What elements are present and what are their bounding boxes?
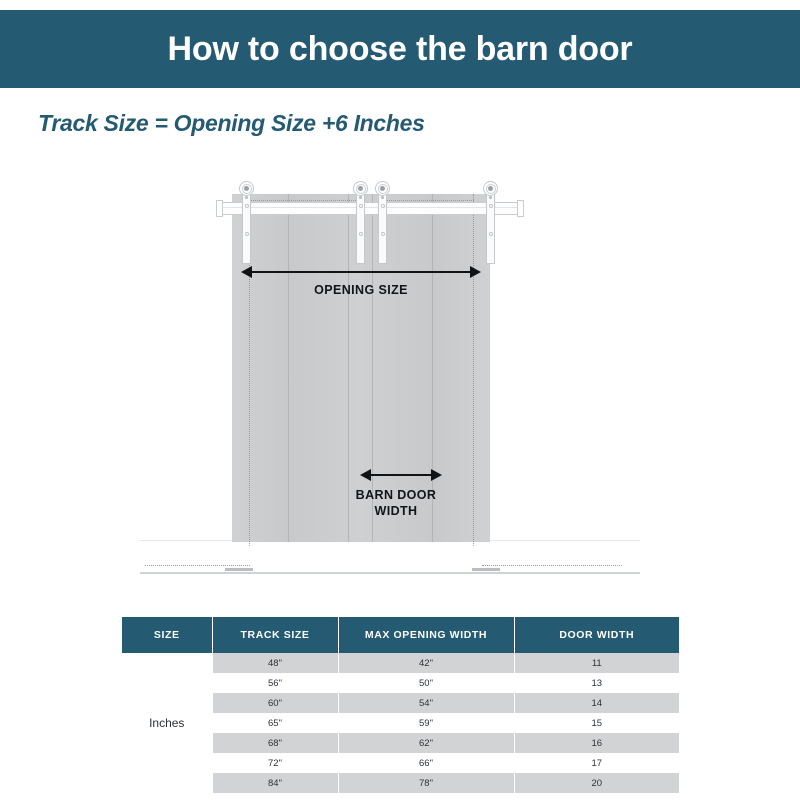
- cell-door-width: 14: [514, 693, 679, 713]
- cell-max-opening-width: 66": [338, 753, 514, 773]
- door-hanger-roller: [483, 172, 498, 264]
- cell-door-width: 20: [514, 773, 679, 793]
- door-hanger-roller: [239, 172, 254, 264]
- floor-dotted-right: [482, 565, 622, 566]
- floor-dotted-left: [145, 565, 250, 566]
- hanger-bolt: [381, 232, 385, 236]
- track-rail-groove: [218, 207, 518, 208]
- track-endcap-left: [216, 200, 223, 217]
- cell-track-size: 48": [212, 653, 338, 673]
- opening-size-dimension-line: [252, 271, 470, 273]
- hanger-bolt: [489, 196, 492, 199]
- cell-max-opening-width: 50": [338, 673, 514, 693]
- hanger-bolt: [381, 204, 385, 208]
- table-row: Inches 48" 42" 11: [122, 653, 679, 673]
- hanger-bolt: [245, 232, 249, 236]
- door-hanger-roller: [353, 172, 368, 264]
- opening-size-arrow-left: [241, 266, 252, 278]
- cell-door-width: 11: [514, 653, 679, 673]
- roller-hub: [380, 186, 385, 191]
- cell-max-opening-width: 78": [338, 773, 514, 793]
- opening-edge-right-dotted: [473, 194, 474, 546]
- cell-door-width: 13: [514, 673, 679, 693]
- header-band: How to choose the barn door: [0, 10, 800, 88]
- hanger-bolt: [359, 204, 363, 208]
- cell-track-size: 60": [212, 693, 338, 713]
- roller-hub: [358, 186, 363, 191]
- door-plank-seam: [288, 194, 289, 542]
- door-width-arrow-right: [431, 469, 442, 481]
- cell-track-size: 84": [212, 773, 338, 793]
- floor-guide-left: [225, 568, 253, 571]
- column-header-track-size: TRACK SIZE: [212, 617, 338, 653]
- door-width-dimension-line: [371, 474, 431, 476]
- opening-size-arrow-right: [470, 266, 481, 278]
- hanger-bolt: [489, 232, 493, 236]
- column-header-door-width: DOOR WIDTH: [514, 617, 679, 653]
- hanger-bolt: [245, 196, 248, 199]
- hanger-bolt: [489, 204, 493, 208]
- opening-size-label: OPENING SIZE: [252, 282, 470, 298]
- door-hanger-roller: [375, 172, 390, 264]
- opening-top-dotted-right: [382, 200, 474, 201]
- unit-cell-inches: Inches: [122, 653, 212, 793]
- cell-door-width: 17: [514, 753, 679, 773]
- hanger-bolt: [359, 196, 362, 199]
- cell-max-opening-width: 54": [338, 693, 514, 713]
- table-header-row: SIZE TRACK SIZE MAX OPENING WIDTH DOOR W…: [122, 617, 679, 653]
- cell-track-size: 56": [212, 673, 338, 693]
- roller-hub: [244, 186, 249, 191]
- hanger-bolt: [245, 204, 249, 208]
- column-header-size: SIZE: [122, 617, 212, 653]
- hanger-bolt: [359, 232, 363, 236]
- hanger-bolt: [381, 196, 384, 199]
- track-rail: [218, 202, 518, 215]
- cell-door-width: 16: [514, 733, 679, 753]
- cell-track-size: 65": [212, 713, 338, 733]
- roller-hub: [488, 186, 493, 191]
- track-endcap-right: [517, 200, 524, 217]
- cell-max-opening-width: 59": [338, 713, 514, 733]
- formula-subtitle: Track Size = Opening Size +6 Inches: [38, 110, 425, 137]
- size-chart-table: SIZE TRACK SIZE MAX OPENING WIDTH DOOR W…: [122, 617, 679, 793]
- cell-track-size: 72": [212, 753, 338, 773]
- page-title: How to choose the barn door: [168, 32, 633, 66]
- opening-top-dotted-left: [249, 200, 364, 201]
- cell-track-size: 68": [212, 733, 338, 753]
- column-header-max-opening-width: MAX OPENING WIDTH: [338, 617, 514, 653]
- cell-max-opening-width: 62": [338, 733, 514, 753]
- door-width-arrow-left: [360, 469, 371, 481]
- cell-door-width: 15: [514, 713, 679, 733]
- cell-max-opening-width: 42": [338, 653, 514, 673]
- floor-guide-right: [472, 568, 500, 571]
- floor-line-lower: [140, 572, 640, 574]
- barn-door-diagram: OPENING SIZE BARN DOOR WIDTH: [0, 160, 800, 600]
- door-width-label: BARN DOOR WIDTH: [336, 487, 456, 519]
